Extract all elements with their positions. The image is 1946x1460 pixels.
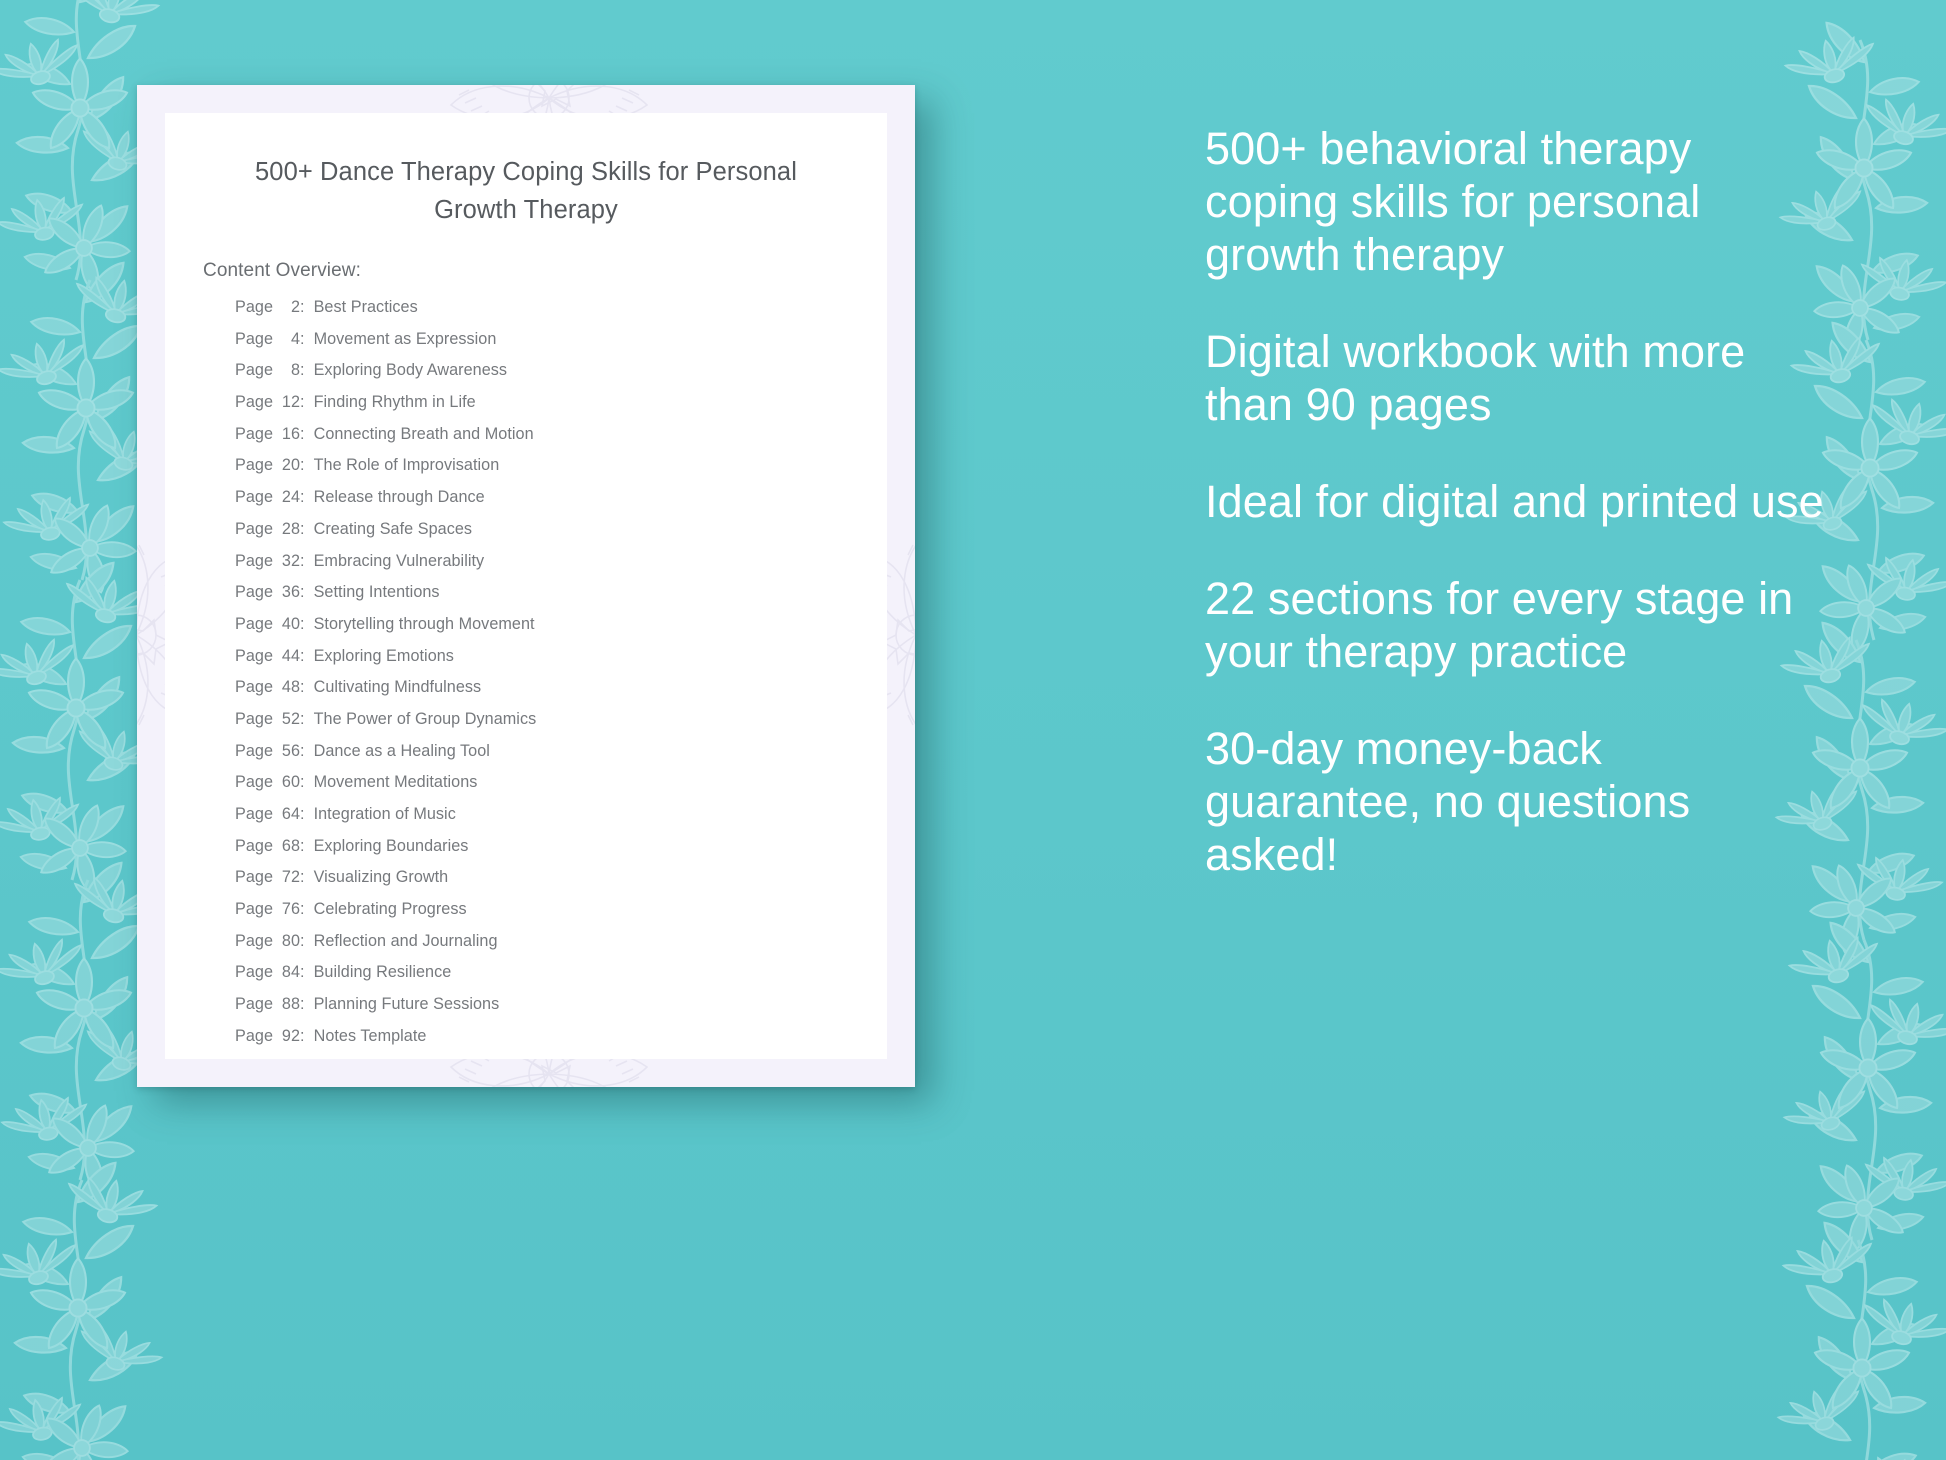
toc-page-word: Page (235, 1027, 273, 1046)
toc-page-word: Page (235, 995, 273, 1014)
toc-page-number: 32 (273, 552, 300, 571)
document-page: 500+ Dance Therapy Coping Skills for Per… (165, 113, 887, 1059)
toc-page-number: 2 (273, 298, 300, 317)
toc-entry-title: Release through Dance (314, 488, 485, 507)
toc-entry: Page72:Visualizing Growth (235, 868, 865, 900)
toc-entry-title: Visualizing Growth (314, 868, 449, 887)
toc-page-word: Page (235, 868, 273, 887)
toc-entry-title: Cultivating Mindfulness (314, 678, 482, 697)
marketing-feature-list: 500+ behavioral therapy coping skills fo… (1205, 122, 1825, 881)
document-card: 500+ Dance Therapy Coping Skills for Per… (137, 85, 915, 1087)
table-of-contents: Page2:Best PracticesPage4:Movement as Ex… (235, 298, 865, 1059)
toc-entry-title: Movement Meditations (314, 773, 478, 792)
toc-page-word: Page (235, 330, 273, 349)
toc-entry: Page8:Exploring Body Awareness (235, 361, 865, 393)
toc-colon: : (300, 520, 314, 539)
toc-entry: Page32:Embracing Vulnerability (235, 552, 865, 584)
toc-page-word: Page (235, 900, 273, 919)
toc-entry: Page28:Creating Safe Spaces (235, 520, 865, 552)
toc-page-word: Page (235, 932, 273, 951)
toc-page-number: 44 (273, 647, 300, 666)
toc-colon: : (300, 583, 314, 602)
toc-entry-title: Dance as a Healing Tool (314, 742, 490, 761)
toc-colon: : (300, 488, 314, 507)
toc-page-number: 40 (273, 615, 300, 634)
toc-page-word: Page (235, 615, 273, 634)
toc-entry: Page2:Best Practices (235, 298, 865, 330)
toc-page-word: Page (235, 742, 273, 761)
toc-colon: : (300, 995, 314, 1014)
toc-entry-title: Exploring Body Awareness (314, 361, 507, 380)
toc-entry: Page56:Dance as a Healing Tool (235, 742, 865, 774)
toc-page-number: 24 (273, 488, 300, 507)
toc-page-word: Page (235, 773, 273, 792)
toc-page-number: 52 (273, 710, 300, 729)
toc-entry: Page16:Connecting Breath and Motion (235, 425, 865, 457)
toc-entry-title: Exploring Emotions (314, 647, 454, 666)
toc-entry: Page80:Reflection and Journaling (235, 932, 865, 964)
toc-entry: Page84:Building Resilience (235, 963, 865, 995)
toc-entry: Page20:The Role of Improvisation (235, 456, 865, 488)
toc-entry-title: Planning Future Sessions (314, 995, 500, 1014)
toc-colon: : (300, 615, 314, 634)
content-overview-label: Content Overview: (203, 260, 361, 282)
toc-page-word: Page (235, 298, 273, 317)
toc-colon: : (300, 805, 314, 824)
toc-page-number: 48 (273, 678, 300, 697)
toc-colon: : (300, 393, 314, 412)
toc-entry-title: Embracing Vulnerability (314, 552, 485, 571)
toc-page-number: 28 (273, 520, 300, 539)
toc-page-number: 16 (273, 425, 300, 444)
toc-page-word: Page (235, 520, 273, 539)
toc-entry: Page64:Integration of Music (235, 805, 865, 837)
toc-page-word: Page (235, 963, 273, 982)
toc-page-word: Page (235, 361, 273, 380)
toc-page-number: 4 (273, 330, 300, 349)
toc-entry: Page76:Celebrating Progress (235, 900, 865, 932)
toc-page-word: Page (235, 456, 273, 475)
toc-colon: : (300, 963, 314, 982)
toc-entry: Page48:Cultivating Mindfulness (235, 678, 865, 710)
toc-colon: : (300, 456, 314, 475)
toc-entry-title: Reflection and Journaling (314, 932, 498, 951)
toc-entry: Page24:Release through Dance (235, 488, 865, 520)
toc-page-number: 36 (273, 583, 300, 602)
toc-entry-title: Notes Template (314, 1027, 427, 1046)
toc-page-number: 84 (273, 963, 300, 982)
toc-entry-title: Best Practices (314, 298, 418, 317)
toc-entry: Page52:The Power of Group Dynamics (235, 710, 865, 742)
toc-page-number: 76 (273, 900, 300, 919)
toc-page-word: Page (235, 647, 273, 666)
document-title: 500+ Dance Therapy Coping Skills for Per… (211, 153, 841, 229)
toc-entry-title: Setting Intentions (314, 583, 440, 602)
toc-entry-title: Celebrating Progress (314, 900, 467, 919)
toc-entry-title: Building Resilience (314, 963, 452, 982)
toc-page-number: 80 (273, 932, 300, 951)
toc-entry: Page40:Storytelling through Movement (235, 615, 865, 647)
toc-entry-title: The Role of Improvisation (314, 456, 500, 475)
toc-entry: Page36:Setting Intentions (235, 583, 865, 615)
toc-page-word: Page (235, 488, 273, 507)
toc-page-word: Page (235, 393, 273, 412)
marketing-feature-item: Digital workbook with more than 90 pages (1205, 325, 1825, 431)
toc-entry-title: Integration of Music (314, 805, 456, 824)
toc-page-word: Page (235, 805, 273, 824)
marketing-feature-item: Ideal for digital and printed use (1205, 475, 1825, 528)
toc-entry: Page92:Notes Template (235, 1027, 865, 1059)
toc-colon: : (300, 678, 314, 697)
toc-entry-title: Movement as Expression (314, 330, 497, 349)
toc-page-number: 12 (273, 393, 300, 412)
toc-colon: : (300, 932, 314, 951)
toc-entry-title: The Power of Group Dynamics (314, 710, 537, 729)
toc-page-word: Page (235, 837, 273, 856)
toc-entry: Page4:Movement as Expression (235, 330, 865, 362)
toc-page-word: Page (235, 552, 273, 571)
toc-entry-title: Finding Rhythm in Life (314, 393, 476, 412)
toc-colon: : (300, 330, 314, 349)
toc-colon: : (300, 298, 314, 317)
toc-entry: Page60:Movement Meditations (235, 773, 865, 805)
toc-colon: : (300, 773, 314, 792)
toc-page-number: 88 (273, 995, 300, 1014)
toc-entry: Page88:Planning Future Sessions (235, 995, 865, 1027)
toc-colon: : (300, 900, 314, 919)
toc-page-word: Page (235, 710, 273, 729)
toc-page-word: Page (235, 583, 273, 602)
toc-page-number: 8 (273, 361, 300, 380)
marketing-feature-item: 22 sections for every stage in your ther… (1205, 572, 1825, 678)
toc-page-number: 20 (273, 456, 300, 475)
toc-entry: Page68:Exploring Boundaries (235, 837, 865, 869)
toc-entry-title: Connecting Breath and Motion (314, 425, 534, 444)
toc-page-number: 60 (273, 773, 300, 792)
toc-colon: : (300, 710, 314, 729)
marketing-feature-item: 30-day money-back guarantee, no question… (1205, 722, 1825, 881)
toc-page-number: 68 (273, 837, 300, 856)
toc-colon: : (300, 425, 314, 444)
toc-entry-title: Creating Safe Spaces (314, 520, 472, 539)
toc-page-word: Page (235, 678, 273, 697)
toc-entry: Page44:Exploring Emotions (235, 647, 865, 679)
toc-page-number: 92 (273, 1027, 300, 1046)
toc-colon: : (300, 647, 314, 666)
toc-colon: : (300, 361, 314, 380)
toc-entry-title: Storytelling through Movement (314, 615, 535, 634)
toc-entry: Page12:Finding Rhythm in Life (235, 393, 865, 425)
toc-colon: : (300, 1027, 314, 1046)
toc-entry-title: Exploring Boundaries (314, 837, 469, 856)
toc-colon: : (300, 868, 314, 887)
marketing-feature-item: 500+ behavioral therapy coping skills fo… (1205, 122, 1825, 281)
toc-page-number: 72 (273, 868, 300, 887)
toc-page-number: 64 (273, 805, 300, 824)
toc-colon: : (300, 837, 314, 856)
toc-page-word: Page (235, 425, 273, 444)
toc-colon: : (300, 552, 314, 571)
toc-page-number: 56 (273, 742, 300, 761)
toc-colon: : (300, 742, 314, 761)
